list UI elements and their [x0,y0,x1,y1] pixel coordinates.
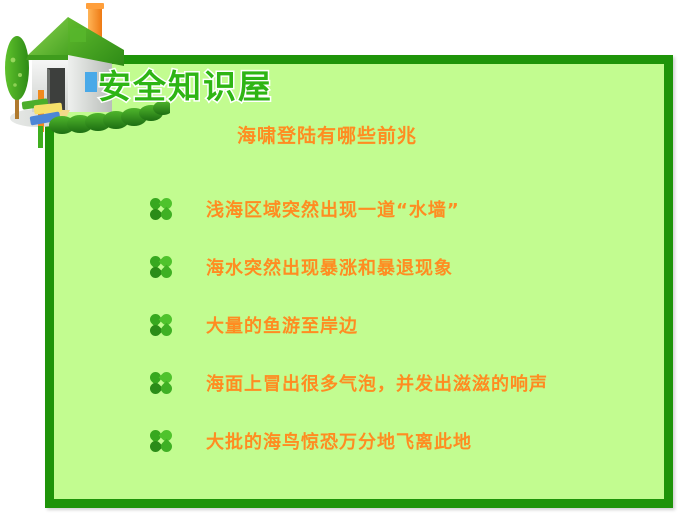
clover-icon [150,256,172,278]
list-item-label: 浅海区域突然出现一道“水墙” [206,196,460,222]
list-item-label: 海面上冒出很多气泡，并发出滋滋的响声 [206,370,548,396]
clover-icon [150,372,172,394]
clover-icon [150,314,172,336]
page-title: 安全知识屋 [98,60,273,108]
list-item: 大量的鱼游至岸边 [150,296,650,354]
list-item-label: 大批的海鸟惊恐万分地飞离此地 [206,428,472,454]
list-item-label: 大量的鱼游至岸边 [206,312,358,338]
list-item: 大批的海鸟惊恐万分地飞离此地 [150,412,650,470]
post-base [38,126,43,148]
clover-icon [150,198,172,220]
clover-icon [150,430,172,452]
slide-canvas: 海啸登陆有哪些前兆 浅海区域突然出现一道“水墙” 海水突然出现暴涨和暴退现象 大… [0,0,690,531]
subtitle-heading: 海啸登陆有哪些前兆 [237,121,417,148]
list-item: 浅海区域突然出现一道“水墙” [150,180,650,238]
bullet-list: 浅海区域突然出现一道“水墙” 海水突然出现暴涨和暴退现象 大量的鱼游至岸边 海面… [150,180,650,470]
list-item: 海面上冒出很多气泡，并发出滋滋的响声 [150,354,650,412]
list-item: 海水突然出现暴涨和暴退现象 [150,238,650,296]
list-item-label: 海水突然出现暴涨和暴退现象 [206,254,453,280]
window-icon [85,72,97,92]
